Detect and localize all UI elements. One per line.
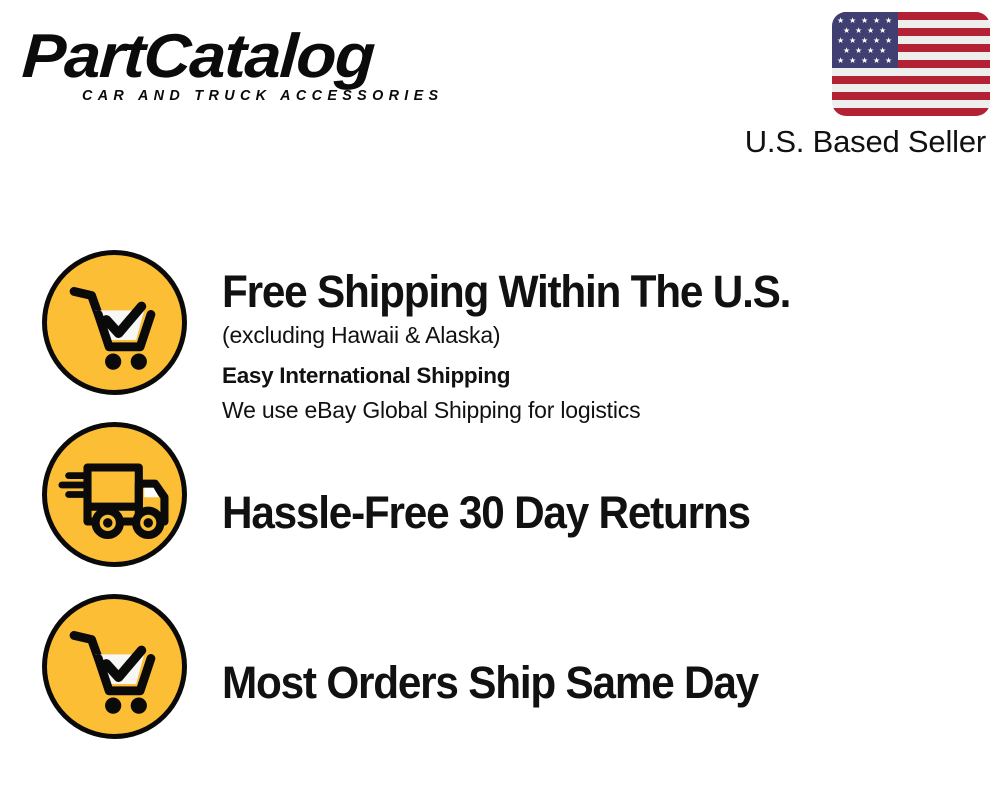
flag-star: ★	[837, 57, 844, 65]
us-flag-icon: ★ ★ ★ ★ ★ ★ ★ ★ ★ ★ ★ ★ ★ ★ ★ ★ ★ ★ ★ ★	[832, 12, 990, 116]
flag-stripe	[832, 108, 990, 116]
flag-star: ★	[879, 47, 886, 55]
flag-star: ★	[861, 37, 868, 45]
feature-row: Hassle-Free 30 Day Returns	[0, 407, 1000, 579]
feature-title: Most Orders Ship Same Day	[222, 579, 936, 709]
flag-star: ★	[885, 17, 892, 25]
brand-tagline: CAR AND TRUCK ACCESSORIES	[82, 88, 443, 104]
flag-star: ★	[837, 37, 844, 45]
flag-stripe	[832, 76, 990, 84]
feature-text: Hassle-Free 30 Day Returns	[222, 407, 982, 539]
flag-star: ★	[873, 17, 880, 25]
flag-star: ★	[843, 47, 850, 55]
flag-star: ★	[885, 57, 892, 65]
flag-star: ★	[849, 37, 856, 45]
flag-star: ★	[849, 17, 856, 25]
flag-stripe	[832, 84, 990, 92]
flag-star: ★	[879, 27, 886, 35]
feature-row: Most Orders Ship Same Day	[0, 579, 1000, 751]
delivery-truck-icon	[42, 422, 187, 567]
flag-star: ★	[849, 57, 856, 65]
feature-title: Hassle-Free 30 Day Returns	[222, 407, 936, 539]
flag-stripe	[832, 92, 990, 100]
feature-text: Free Shipping Within The U.S. (excluding…	[222, 235, 982, 427]
flag-star: ★	[861, 57, 868, 65]
shopping-cart-check-icon	[42, 250, 187, 395]
us-based-seller-label: U.S. Based Seller	[720, 125, 990, 159]
flag-star: ★	[861, 17, 868, 25]
flag-star: ★	[873, 37, 880, 45]
feature-title: Free Shipping Within The U.S.	[222, 235, 936, 318]
flag-stripe	[832, 68, 990, 76]
flag-star: ★	[855, 27, 862, 35]
shopping-cart-check-icon	[42, 594, 187, 739]
flag-star: ★	[843, 27, 850, 35]
flag-star: ★	[867, 27, 874, 35]
us-based-seller-badge: ★ ★ ★ ★ ★ ★ ★ ★ ★ ★ ★ ★ ★ ★ ★ ★ ★ ★ ★ ★	[720, 12, 990, 159]
brand-logo[interactable]: PartCatalog CAR AND TRUCK ACCESSORIES	[24, 26, 494, 112]
flag-canton: ★ ★ ★ ★ ★ ★ ★ ★ ★ ★ ★ ★ ★ ★ ★ ★ ★ ★ ★ ★	[832, 12, 898, 68]
feature-note: (excluding Hawaii & Alaska)	[222, 318, 982, 352]
flag-stripe	[832, 100, 990, 108]
flag-star: ★	[885, 37, 892, 45]
flag-star: ★	[855, 47, 862, 55]
brand-wordmark: PartCatalog	[21, 26, 523, 88]
flag-star: ★	[837, 17, 844, 25]
feature-text: Most Orders Ship Same Day	[222, 579, 982, 709]
feature-row: Free Shipping Within The U.S. (excluding…	[0, 235, 1000, 407]
flag-star: ★	[867, 47, 874, 55]
page-header: PartCatalog CAR AND TRUCK ACCESSORIES ★ …	[0, 0, 1000, 175]
feature-subtitle-bold: Easy International Shipping	[222, 359, 982, 393]
flag-star: ★	[873, 57, 880, 65]
